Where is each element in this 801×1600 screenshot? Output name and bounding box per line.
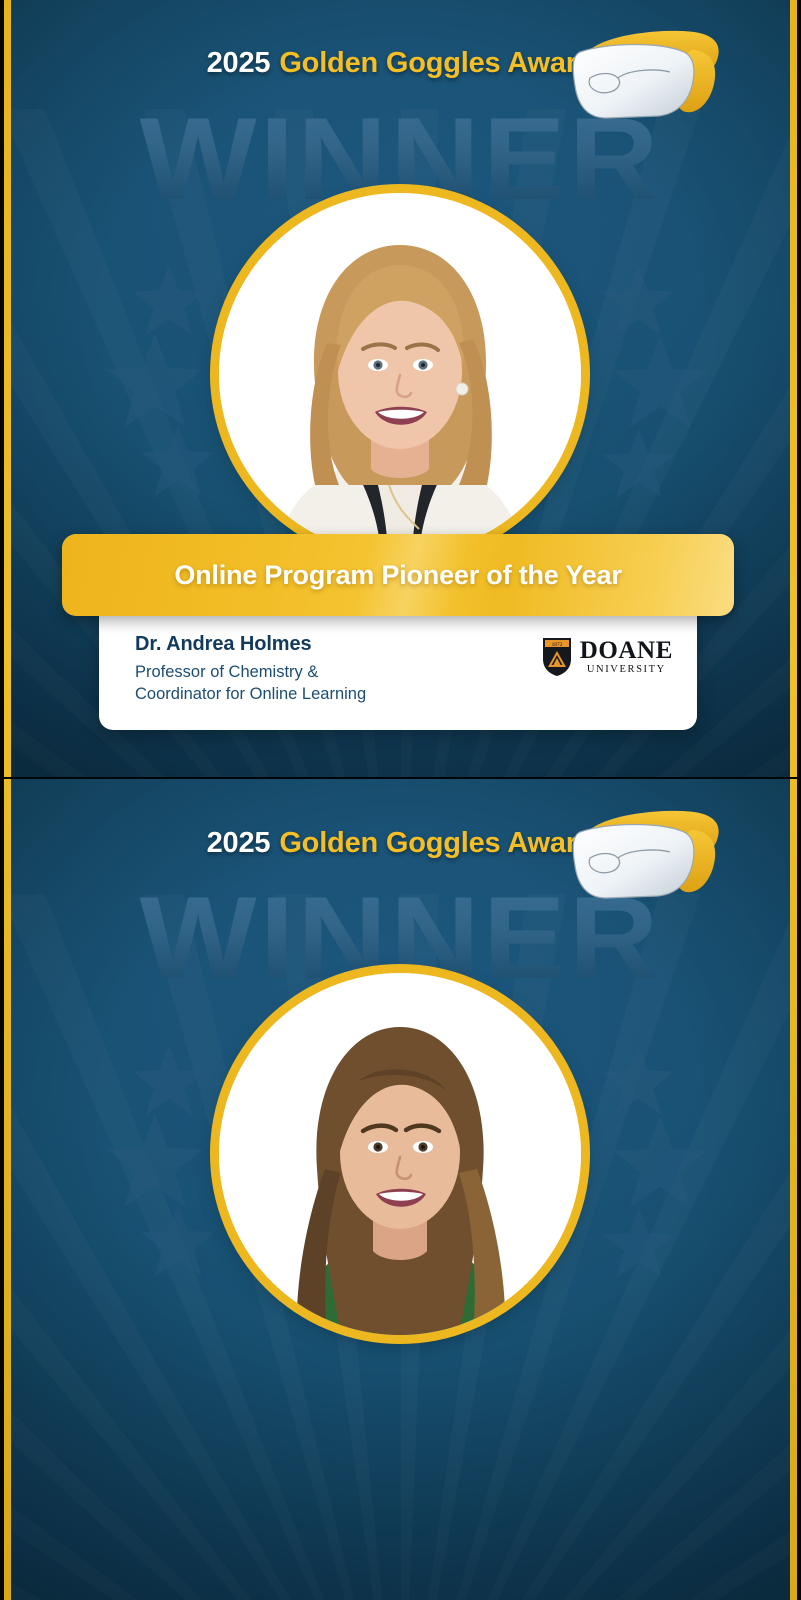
award-name: Golden Goggles Award bbox=[279, 47, 594, 80]
award-title-label: Online Program Pioneer of the Year bbox=[174, 560, 621, 591]
award-title-banner: Online Program Pioneer of the Year bbox=[62, 534, 734, 616]
recipient-name: Dr. Andrea Holmes bbox=[135, 633, 366, 656]
recipient-title-line-2: Coordinator for Online Learning bbox=[135, 683, 366, 705]
recipient-details: Dr. Andrea Holmes Professor of Chemistry… bbox=[135, 633, 366, 706]
svg-text:1872: 1872 bbox=[551, 642, 562, 648]
left-gold-stripe bbox=[4, 0, 11, 1600]
award-year: 2025 bbox=[207, 47, 271, 80]
right-gold-stripe bbox=[790, 0, 797, 1600]
left-black-edge bbox=[0, 0, 4, 1600]
panel-divider bbox=[0, 777, 801, 779]
recipient-title-line-1: Professor of Chemistry & bbox=[135, 661, 366, 683]
recipient-portrait bbox=[219, 193, 581, 555]
award-card-panel-2: WINNER 2025 Golden Goggles Award bbox=[0, 779, 801, 1600]
award-year: 2025 bbox=[207, 827, 271, 860]
award-cards-canvas: WINNER 2025 Golden Goggles Award bbox=[0, 0, 801, 1600]
safety-goggles-icon bbox=[566, 26, 724, 131]
recipient-portrait bbox=[219, 973, 581, 1335]
safety-goggles-icon bbox=[566, 806, 724, 911]
award-name: Golden Goggles Award bbox=[279, 827, 594, 860]
doane-university-logo: 1872 DOANE UNIVERSITY bbox=[542, 637, 673, 677]
doane-wordmark-subtitle: UNIVERSITY bbox=[587, 665, 666, 676]
doane-wordmark-name: DOANE bbox=[580, 638, 673, 663]
award-card-panel-1: WINNER 2025 Golden Goggles Award bbox=[0, 0, 801, 777]
doane-shield-icon: 1872 bbox=[542, 637, 572, 677]
right-black-edge bbox=[797, 0, 801, 1600]
